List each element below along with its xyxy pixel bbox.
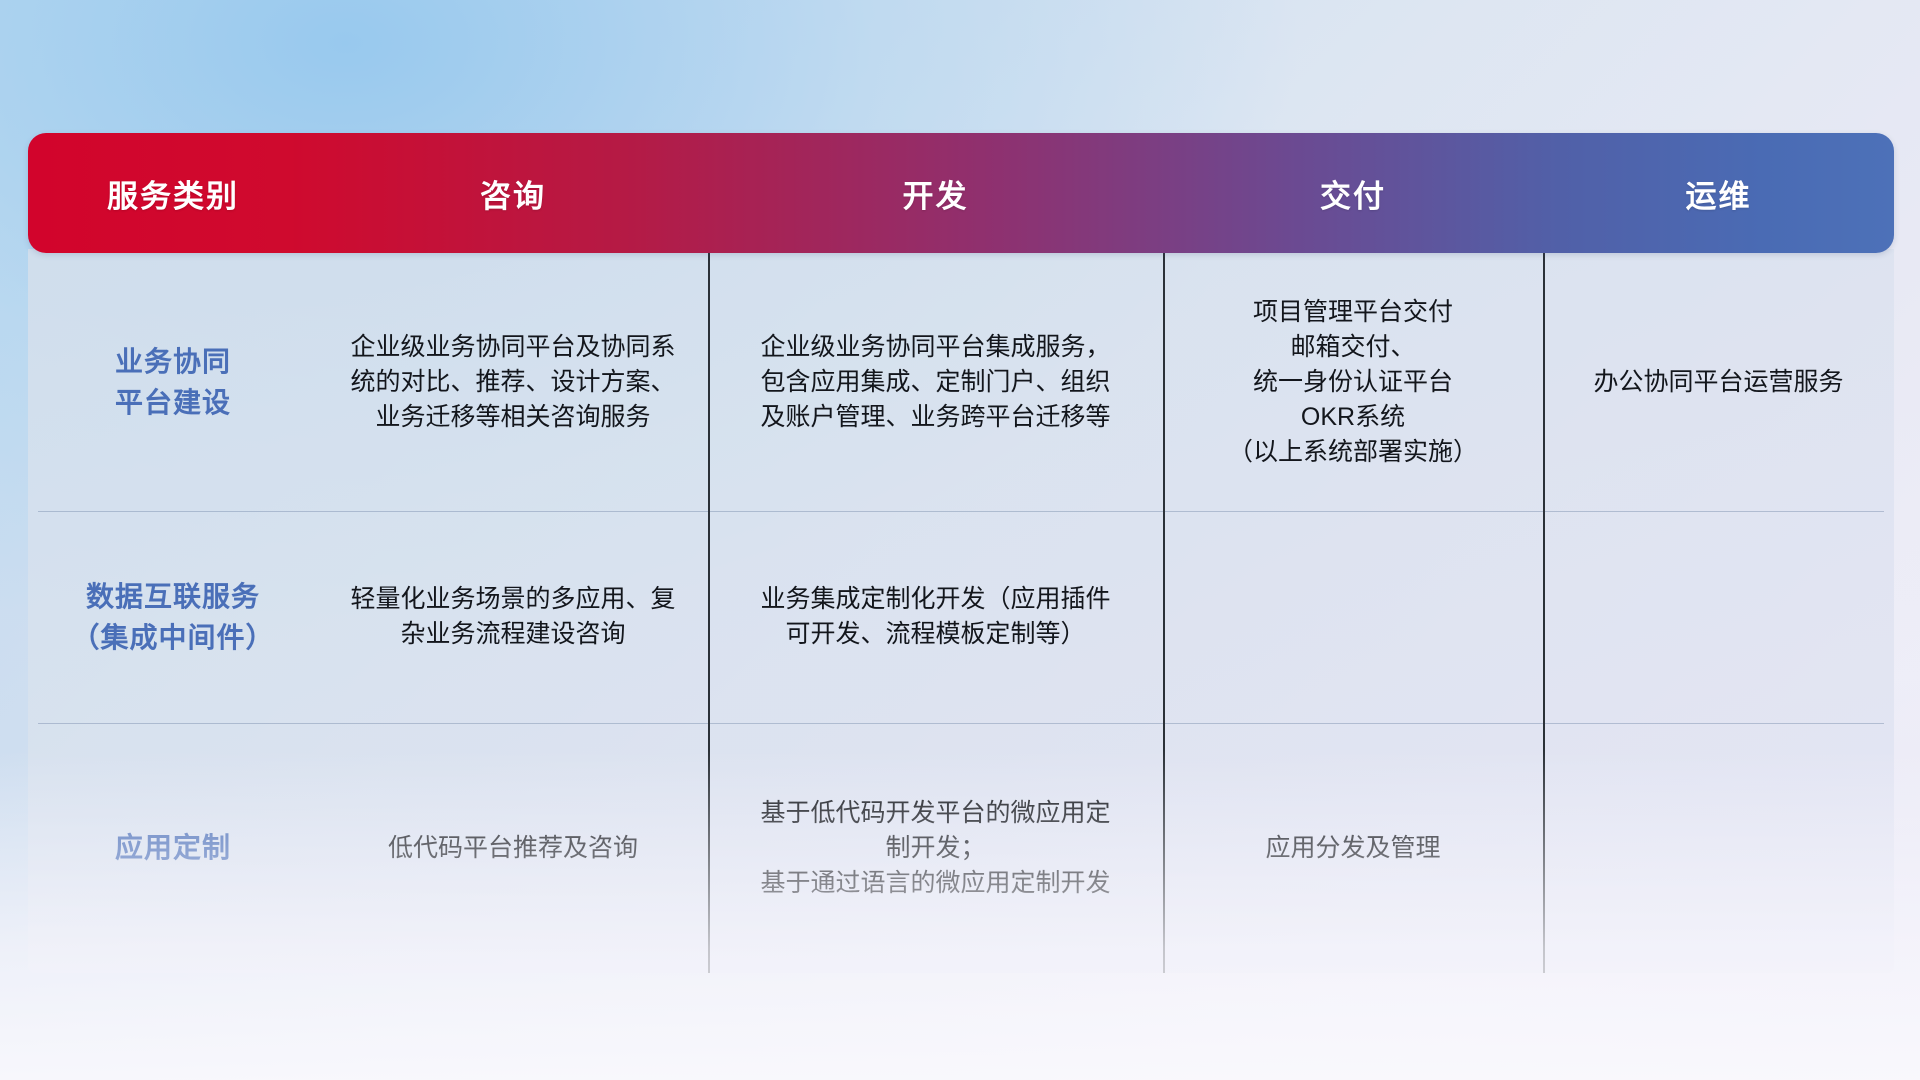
cell-delivery [1163,511,1543,723]
column-header-operations: 运维 [1543,133,1894,253]
service-category-table: 服务类别 咨询 开发 交付 运维 业务协同 平台建设 企业级业务协同平台及协同系… [28,133,1894,973]
table-row: 数据互联服务 （集成中间件） 轻量化业务场景的多应用、复 杂业务流程建设咨询 业… [28,511,1894,723]
cell-development: 基于低代码开发平台的微应用定 制开发； 基于通过语言的微应用定制开发 [708,723,1163,973]
cell-consulting: 低代码平台推荐及咨询 [318,723,708,973]
slide-canvas: 服务类别 咨询 开发 交付 运维 业务协同 平台建设 企业级业务协同平台及协同系… [0,0,1920,1080]
table-body: 业务协同 平台建设 企业级业务协同平台及协同系 统的对比、推荐、设计方案、 业务… [28,249,1894,973]
row-category-label: 应用定制 [28,723,318,973]
cell-delivery: 应用分发及管理 [1163,723,1543,973]
column-header-category: 服务类别 [28,133,318,253]
column-header-development: 开发 [708,133,1163,253]
row-category-label: 数据互联服务 （集成中间件） [28,511,318,723]
table-row: 业务协同 平台建设 企业级业务协同平台及协同系 统的对比、推荐、设计方案、 业务… [28,253,1894,511]
cell-operations [1543,723,1894,973]
cell-consulting: 企业级业务协同平台及协同系 统的对比、推荐、设计方案、 业务迁移等相关咨询服务 [318,253,708,511]
column-header-delivery: 交付 [1163,133,1543,253]
cell-development: 企业级业务协同平台集成服务， 包含应用集成、定制门户、组织 及账户管理、业务跨平… [708,253,1163,511]
table-row: 应用定制 低代码平台推荐及咨询 基于低代码开发平台的微应用定 制开发； 基于通过… [28,723,1894,973]
cell-delivery: 项目管理平台交付 邮箱交付、 统一身份认证平台 OKR系统 （以上系统部署实施） [1163,253,1543,511]
cell-operations: 办公协同平台运营服务 [1543,253,1894,511]
cell-development: 业务集成定制化开发（应用插件 可开发、流程模板定制等） [708,511,1163,723]
cell-consulting: 轻量化业务场景的多应用、复 杂业务流程建设咨询 [318,511,708,723]
row-category-label: 业务协同 平台建设 [28,253,318,511]
column-header-consulting: 咨询 [318,133,708,253]
cell-operations [1543,511,1894,723]
table-header-row: 服务类别 咨询 开发 交付 运维 [28,133,1894,253]
